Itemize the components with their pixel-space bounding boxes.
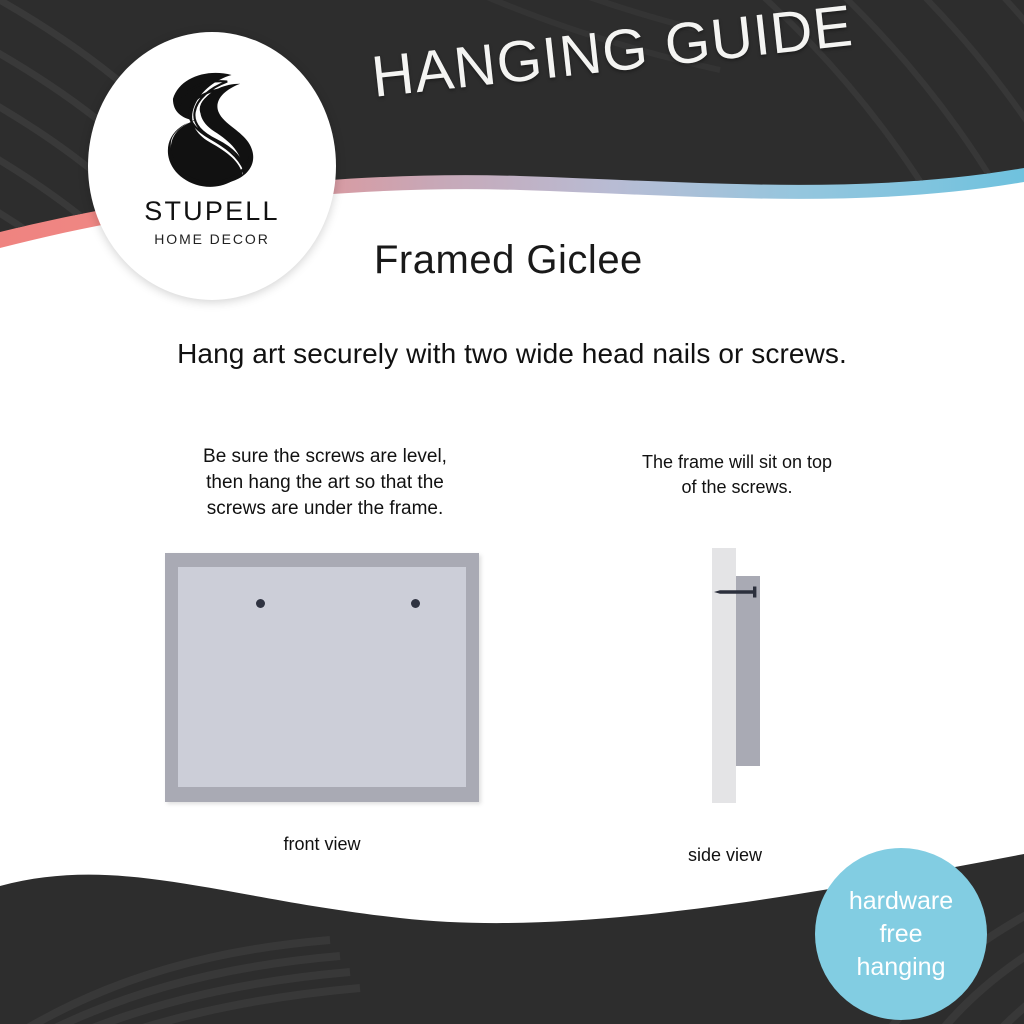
side-view-frame (736, 576, 760, 766)
side-view-note: The frame will sit on top of the screws. (594, 450, 880, 500)
screw-dot-left-icon (256, 599, 265, 608)
hardware-free-hanging-badge: hardware free hanging (815, 848, 987, 1020)
hanging-guide-page: STUPELL HOME DECOR HANGING GUIDE Framed … (0, 0, 1024, 1024)
stupell-swoosh-logo-icon (146, 62, 278, 190)
badge-line-3: hanging (857, 951, 946, 984)
front-view-artwork-area (178, 567, 466, 787)
product-type-subtitle: Framed Giclee (374, 238, 643, 283)
instruction-headline: Hang art securely with two wide head nai… (0, 338, 1024, 370)
front-view-note-line-2: then hang the art so that the (140, 470, 510, 496)
brand-logo-badge: STUPELL HOME DECOR (88, 32, 336, 300)
side-view-note-line-2: of the screws. (594, 475, 880, 500)
badge-line-1: hardware (849, 885, 953, 918)
brand-name: STUPELL (144, 196, 279, 227)
brand-tagline: HOME DECOR (154, 231, 269, 247)
front-view-note-line-3: screws are under the frame. (140, 496, 510, 522)
front-view-diagram (165, 553, 479, 802)
side-view-note-line-1: The frame will sit on top (594, 450, 880, 475)
front-view-note-line-1: Be sure the screws are level, (140, 444, 510, 470)
screw-dot-right-icon (411, 599, 420, 608)
nail-icon (714, 586, 762, 598)
badge-line-2: free (879, 918, 922, 951)
front-view-note: Be sure the screws are level, then hang … (140, 444, 510, 522)
